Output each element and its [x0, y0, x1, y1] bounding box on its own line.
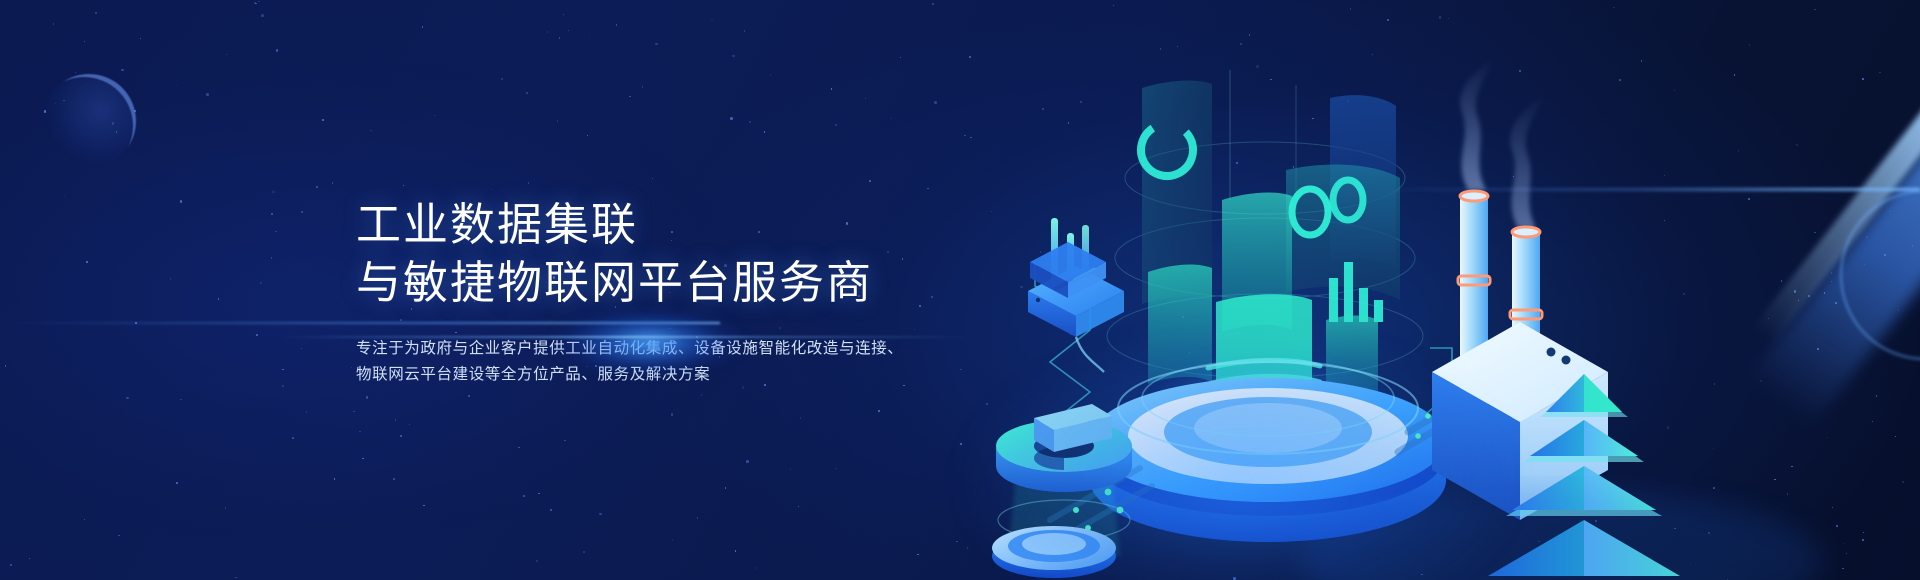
star-dot	[1791, 466, 1793, 468]
star-dot	[563, 14, 565, 16]
star-dot	[370, 130, 372, 132]
cylinder-panel-front-right	[1326, 316, 1378, 393]
star-dot	[1734, 74, 1736, 76]
star-dot	[176, 85, 178, 87]
star-dot	[917, 554, 919, 556]
star-dot	[1020, 286, 1023, 289]
star-dot	[53, 23, 55, 25]
star-dot	[1387, 19, 1389, 21]
bar-chart-hologram	[1329, 262, 1383, 322]
star-dot	[835, 468, 837, 470]
smoke-plumes	[1460, 60, 1544, 228]
star-dot	[1664, 175, 1666, 177]
star-dot	[526, 92, 528, 94]
star-dot	[422, 26, 424, 28]
star-dot	[176, 482, 178, 484]
star-dot	[900, 57, 902, 59]
star-dot	[1021, 557, 1024, 560]
subtitle-line-2: 物联网云平台建设等全方位产品、服务及解决方案	[356, 362, 996, 388]
star-dot	[1340, 469, 1343, 472]
star-dot	[282, 369, 284, 371]
star-dot	[1814, 232, 1816, 234]
star-dot	[1372, 54, 1374, 56]
star-dot	[701, 394, 703, 396]
star-dot	[932, 3, 934, 5]
factory-smokestacks	[1432, 60, 1608, 520]
donut-exploded-slice	[1034, 404, 1112, 452]
star-dot	[1347, 100, 1349, 102]
star-dot	[523, 495, 525, 497]
star-dot	[359, 431, 361, 433]
ring-gauge-hologram	[1132, 81, 1212, 304]
star-dot	[1070, 543, 1072, 545]
star-dot	[1846, 553, 1848, 555]
star-dot	[1113, 5, 1115, 7]
star-dot	[770, 74, 772, 76]
star-dot	[831, 88, 833, 90]
star-dot	[1832, 507, 1834, 509]
data-sheet-stripes	[1208, 360, 1320, 400]
star-dot	[1060, 550, 1062, 552]
data-link-beams	[1398, 344, 1556, 453]
star-dot	[1421, 574, 1423, 576]
star-dot	[1072, 308, 1074, 310]
star-dot	[538, 493, 540, 495]
star-dot	[1844, 543, 1846, 545]
star-dot	[1191, 273, 1193, 275]
star-dot	[366, 396, 369, 399]
star-dot	[1513, 176, 1515, 178]
star-dot	[292, 437, 294, 439]
star-dot	[258, 1, 260, 3]
star-dot	[1708, 532, 1710, 534]
star-dot	[960, 443, 962, 445]
star-dot	[423, 505, 425, 507]
star-dot	[589, 34, 591, 36]
star-dot	[599, 513, 602, 516]
star-dot	[75, 72, 77, 74]
star-dot	[301, 348, 303, 350]
star-dot	[1049, 264, 1051, 266]
star-dot	[1270, 79, 1272, 81]
star-dot	[732, 55, 735, 58]
star-dot	[564, 440, 566, 442]
star-dot	[1641, 60, 1643, 62]
star-dot	[255, 3, 257, 5]
star-dot	[272, 191, 275, 194]
smokestack-left	[1458, 191, 1490, 458]
star-dot	[1664, 220, 1666, 222]
star-dot	[351, 367, 353, 369]
star-dot	[1189, 352, 1191, 354]
star-dot	[1538, 541, 1540, 543]
star-dot	[1072, 334, 1074, 336]
star-dot	[1796, 144, 1798, 146]
star-dot	[393, 478, 395, 480]
star-dot	[275, 231, 277, 233]
star-dot	[1738, 150, 1740, 152]
small-glow-disc	[992, 526, 1116, 578]
star-dot	[1690, 563, 1692, 565]
star-dot	[964, 135, 966, 137]
cylinder-panel-back-right	[1330, 95, 1396, 268]
star-dot	[557, 120, 559, 122]
hero-text-block: 工业数据集联 与敏捷物联网平台服务商 专注于为政府与企业客户提供工业自动化集成、…	[356, 196, 996, 388]
star-dot	[583, 551, 585, 553]
star-dot	[468, 395, 470, 397]
star-dot	[671, 413, 674, 416]
star-dot	[547, 31, 549, 33]
star-dot	[1895, 436, 1897, 438]
smokestack-right	[1510, 227, 1542, 458]
mini-iso-cube	[1030, 242, 1106, 298]
star-dot	[1053, 538, 1055, 540]
star-dot	[170, 278, 172, 280]
star-dot	[1827, 437, 1829, 439]
star-dot	[790, 468, 792, 470]
star-dot	[568, 30, 570, 32]
donut-chart-module	[996, 404, 1132, 556]
star-dot	[118, 535, 120, 537]
star-dot	[1862, 539, 1864, 541]
star-dot	[64, 196, 66, 198]
star-dot	[1842, 568, 1844, 570]
star-dot	[282, 385, 285, 388]
star-dot	[218, 298, 220, 300]
star-dot	[798, 506, 800, 508]
star-dot	[711, 20, 713, 22]
star-dot	[755, 567, 757, 569]
star-dot	[746, 460, 749, 463]
star-dot	[878, 410, 880, 412]
star-dot	[400, 435, 403, 438]
star-dot	[271, 257, 273, 259]
star-dot	[629, 96, 631, 98]
star-dot	[655, 43, 658, 46]
star-dot	[84, 519, 86, 521]
star-dot	[1902, 481, 1905, 484]
horizontal-light-streak-right	[1360, 188, 1920, 191]
holographic-data-cylinder	[1107, 70, 1423, 436]
star-dot	[967, 547, 969, 549]
star-dot	[869, 180, 871, 182]
hero-banner: 工业数据集联 与敏捷物联网平台服务商 专注于为政府与企业客户提供工业自动化集成、…	[0, 0, 1920, 580]
star-dot	[672, 539, 674, 541]
star-dot	[1876, 395, 1878, 397]
star-dot	[180, 399, 182, 401]
star-dot	[1787, 493, 1789, 495]
star-dot	[276, 49, 279, 52]
router-gateway-device	[1028, 218, 1124, 372]
star-dot	[362, 458, 364, 460]
crescent-moon-decoration	[42, 74, 136, 168]
star-dot	[1863, 532, 1865, 534]
title-line-1: 工业数据集联	[356, 196, 996, 254]
star-dot	[1674, 90, 1676, 92]
star-dot	[1160, 48, 1162, 50]
star-dot	[84, 41, 86, 43]
star-dot	[956, 541, 958, 543]
star-dot	[1521, 367, 1523, 369]
star-dot	[235, 577, 237, 579]
star-dot	[749, 121, 751, 123]
star-dot	[1713, 487, 1715, 489]
star-dot	[1595, 520, 1597, 522]
cylinder-panel-front	[1216, 294, 1312, 402]
title-line-2: 与敏捷物联网平台服务商	[356, 254, 996, 312]
star-dot	[95, 12, 98, 15]
star-dot	[730, 117, 733, 120]
star-dot	[492, 189, 494, 191]
star-dot	[409, 424, 411, 426]
star-dot	[652, 178, 654, 180]
star-dot	[927, 188, 929, 190]
podium-floor-glow	[960, 330, 1520, 580]
star-dot	[725, 487, 727, 489]
star-dot	[1749, 44, 1751, 46]
star-dot	[642, 86, 644, 88]
star-dot	[1098, 314, 1101, 317]
subtitle-line-1: 专注于为政府与企业客户提供工业自动化集成、设备设施智能化改造与连接、	[356, 336, 996, 362]
star-dot	[587, 135, 589, 137]
star-dot	[969, 56, 971, 58]
star-dot	[835, 124, 837, 126]
star-dot	[1040, 251, 1042, 253]
star-dot	[254, 2, 256, 4]
cylinder-panel-mid-left	[1222, 193, 1292, 332]
headline-underline-glow	[276, 336, 976, 338]
star-dot	[1683, 293, 1685, 295]
star-dot	[1872, 421, 1874, 423]
star-dot	[528, 182, 530, 184]
star-dot	[316, 186, 318, 188]
star-dot	[353, 411, 355, 413]
star-dot	[1667, 426, 1670, 429]
star-dot	[180, 200, 183, 203]
star-dot	[934, 101, 937, 104]
star-dot	[1042, 108, 1044, 110]
star-dot	[226, 54, 228, 56]
star-dot	[225, 507, 227, 509]
star-dot	[395, 419, 397, 421]
star-dot	[1714, 383, 1716, 385]
star-dot	[1080, 101, 1082, 103]
star-dot	[1879, 72, 1881, 74]
star-dot	[1240, 43, 1242, 45]
star-dot	[140, 38, 142, 40]
cylinder-guide-rings	[1107, 142, 1423, 378]
layered-pyramid	[1488, 374, 1680, 576]
star-dot	[260, 282, 263, 285]
star-dot	[1137, 443, 1139, 445]
hero-subtitle: 专注于为政府与企业客户提供工业自动化集成、设备设施智能化改造与连接、 物联网云平…	[356, 336, 996, 388]
star-dot	[970, 137, 972, 139]
star-dot	[550, 509, 552, 511]
star-dot	[403, 185, 405, 187]
factory-building-box	[1432, 322, 1608, 520]
star-dot	[1233, 577, 1236, 580]
star-dot	[256, 334, 258, 336]
star-dot	[1177, 46, 1179, 48]
star-dot	[697, 517, 699, 519]
glowing-podium-base	[1090, 360, 1446, 542]
star-dot	[744, 30, 746, 32]
circuit-trace-lines	[1035, 262, 1452, 492]
star-dot	[126, 397, 129, 400]
star-dot	[5, 365, 7, 367]
star-dot	[1312, 118, 1314, 120]
data-link-beams-left	[1050, 468, 1152, 538]
star-dot	[1261, 374, 1264, 377]
star-dot	[1713, 448, 1715, 450]
star-dot	[986, 403, 988, 405]
star-dot	[1619, 79, 1621, 81]
star-dot	[306, 411, 308, 413]
star-dot	[1774, 479, 1776, 481]
star-dot	[536, 560, 538, 562]
star-dot	[29, 558, 31, 560]
star-dot	[86, 261, 88, 263]
star-dot	[1256, 65, 1259, 68]
router-antennas	[1051, 218, 1089, 287]
star-dot	[1070, 333, 1073, 336]
star-dot	[1249, 34, 1251, 36]
star-dot	[764, 131, 766, 133]
star-dot	[10, 564, 12, 566]
star-dot	[206, 93, 209, 96]
star-dot	[301, 211, 303, 213]
star-dot	[1339, 445, 1341, 447]
star-dot	[1862, 78, 1864, 80]
star-dot	[334, 478, 336, 480]
star-dot	[1613, 7, 1615, 9]
star-dot	[559, 37, 561, 39]
star-dot	[1182, 316, 1184, 318]
star-dot	[501, 78, 504, 81]
cylinder-panel-left	[1148, 265, 1212, 384]
star-dot	[1350, 8, 1352, 10]
star-dot	[616, 24, 618, 26]
star-dot	[261, 14, 264, 17]
star-dot	[1238, 457, 1240, 459]
page-title: 工业数据集联 与敏捷物联网平台服务商	[356, 196, 996, 312]
star-dot	[1293, 166, 1295, 168]
star-dot	[800, 417, 802, 419]
star-dot	[1103, 286, 1105, 288]
star-dot	[1781, 280, 1783, 282]
star-dot	[865, 98, 867, 100]
star-dot	[1519, 70, 1521, 72]
star-dot	[518, 447, 520, 449]
star-dot	[332, 182, 334, 184]
star-dot	[891, 118, 893, 120]
star-dot	[1439, 16, 1442, 19]
star-dot	[1562, 482, 1564, 484]
star-dot	[1068, 122, 1070, 124]
star-dot	[1448, 18, 1450, 20]
star-dot	[271, 213, 273, 215]
star-dot	[322, 119, 324, 121]
star-dot	[121, 69, 124, 72]
star-dot	[1674, 528, 1676, 530]
star-dot	[1748, 198, 1750, 200]
star-dot	[1836, 525, 1838, 527]
star-dot	[1236, 162, 1238, 164]
cylinder-panel-eyes	[1286, 164, 1400, 300]
star-dot	[735, 550, 737, 552]
star-dot	[434, 115, 436, 117]
star-dot	[1814, 9, 1816, 11]
